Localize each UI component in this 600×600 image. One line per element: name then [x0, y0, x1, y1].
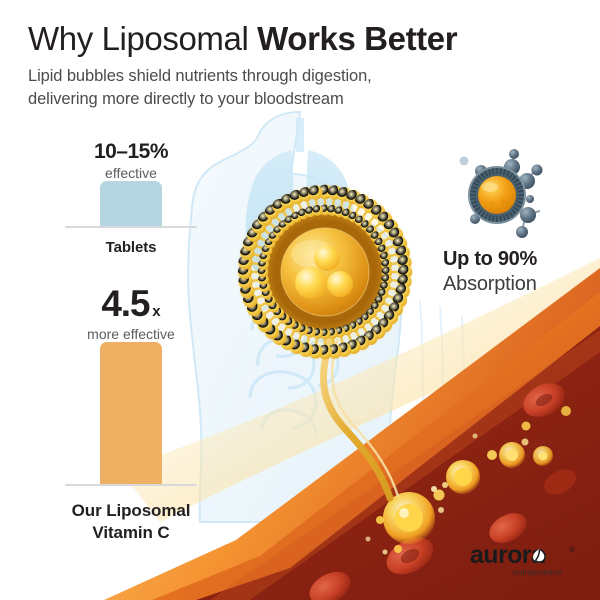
- absorption-value: Up to 90%: [443, 248, 593, 271]
- logo-trademark: ®: [570, 546, 576, 554]
- infographic-canvas: Why Liposomal Works Better Lipid bubbles…: [0, 0, 600, 600]
- liposomal-caption: more effective: [36, 326, 226, 342]
- absorption-label: Absorption: [443, 273, 593, 296]
- tablets-bar-area: [36, 181, 226, 228]
- bar-liposomal: [100, 342, 162, 484]
- baseline-tablets: [65, 226, 197, 228]
- title-bold: Works Better: [257, 20, 457, 57]
- tablets-caption: effective: [36, 165, 226, 181]
- liposomal-bar-area: [36, 342, 226, 486]
- liposomal-metric: 4.5x more effective: [36, 283, 226, 342]
- bar-label-liposomal: Our Liposomal Vitamin C: [36, 500, 226, 544]
- liposomal-unit: x: [152, 303, 160, 320]
- liposomal-value: 4.5x: [36, 283, 226, 325]
- liposome-illustration: [237, 184, 413, 360]
- bar-tablets: [100, 181, 162, 226]
- tablets-value: 10–15%: [36, 140, 226, 164]
- aurora-logo-mark: aurora ® nutrascience: [470, 541, 582, 579]
- chart-spacer: [36, 256, 226, 283]
- tablets-metric: 10–15% effective: [36, 140, 226, 181]
- title-regular: Why Liposomal: [28, 20, 257, 57]
- molecule-vesicle: [469, 167, 525, 223]
- brand-logo: aurora ® nutrascience: [470, 541, 582, 579]
- subtitle-line-2: delivering more directly to your bloodst…: [28, 88, 573, 111]
- liposomal-multiplier: 4.5: [101, 283, 149, 324]
- comparison-bar-chart: 10–15% effective Tablets 4.5x more effec…: [36, 140, 226, 544]
- page-title: Why Liposomal Works Better: [28, 20, 573, 58]
- liposome-molecule-icon: [452, 145, 557, 245]
- header: Why Liposomal Works Better Lipid bubbles…: [28, 20, 573, 112]
- logo-tagline: nutrascience: [513, 568, 562, 577]
- bar-label-tablets: Tablets: [36, 239, 226, 256]
- page-subtitle: Lipid bubbles shield nutrients through d…: [28, 65, 573, 112]
- subtitle-line-1: Lipid bubbles shield nutrients through d…: [28, 65, 573, 88]
- absorption-callout: Up to 90% Absorption: [443, 248, 593, 296]
- baseline-liposomal: [65, 484, 197, 486]
